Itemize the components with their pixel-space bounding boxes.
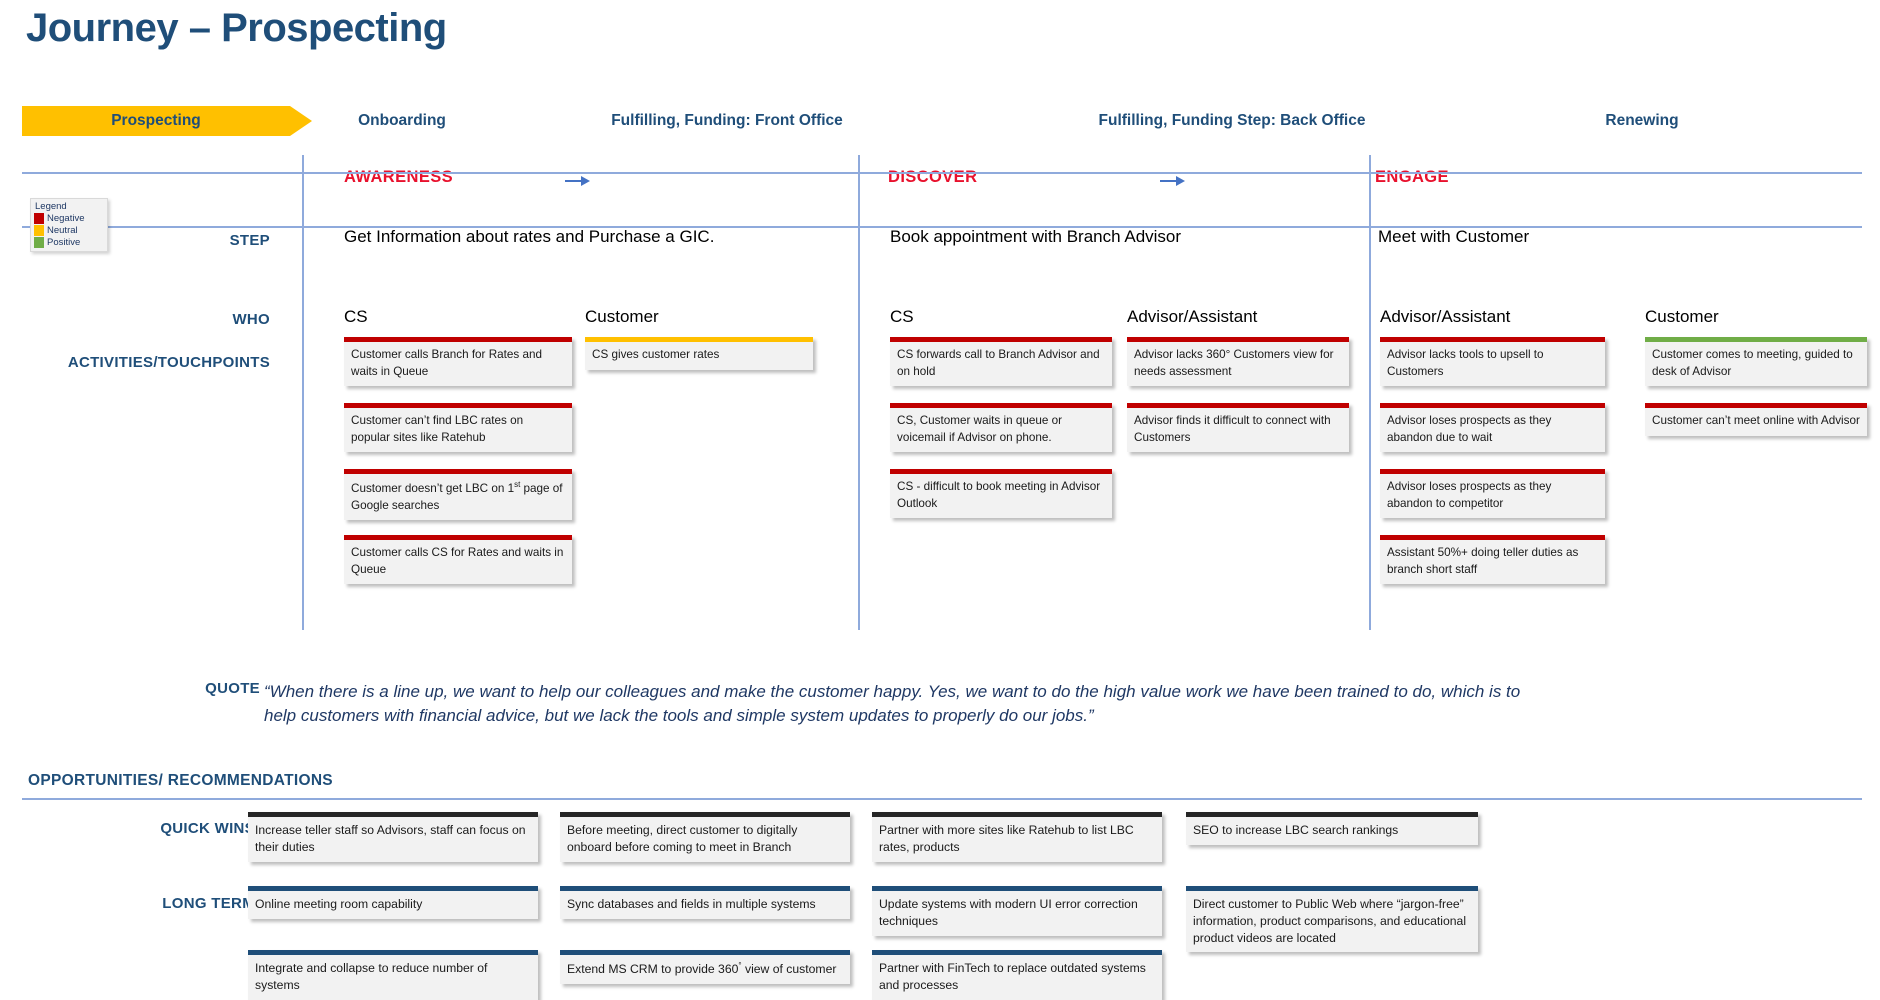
activity-card-text: Advisor loses prospects as they abandon …	[1380, 474, 1605, 518]
rule-stage-1	[302, 155, 304, 630]
recommendation-text: Extend MS CRM to provide 360° view of cu…	[560, 955, 850, 984]
legend-item-negative: Negative	[34, 213, 104, 224]
activity-card[interactable]: Customer calls CS for Rates and waits in…	[344, 535, 572, 584]
phase-ribbon: ProspectingOnboardingFulfilling, Funding…	[22, 106, 1862, 136]
recommendation-text: Before meeting, direct customer to digit…	[560, 817, 850, 862]
rule-opportunities	[22, 798, 1862, 800]
activity-card-text: Advisor finds it difficult to connect wi…	[1127, 408, 1349, 452]
who-header-4: Advisor/Assistant	[1380, 307, 1510, 327]
legend-swatch-neutral	[34, 225, 44, 236]
stage-label-awareness: AWARENESS	[344, 168, 453, 187]
activity-card-text: CS gives customer rates	[585, 342, 813, 370]
activity-card-text: Customer calls CS for Rates and waits in…	[344, 540, 572, 584]
phase-label: Fulfilling, Funding: Front Office	[611, 112, 843, 130]
activity-card[interactable]: Advisor finds it difficult to connect wi…	[1127, 403, 1349, 452]
activity-card[interactable]: Customer comes to meeting, guided to des…	[1645, 337, 1867, 386]
recommendation-text: Increase teller staff so Advisors, staff…	[248, 817, 538, 862]
rule-stage-3	[1369, 155, 1371, 630]
who-header-3: Advisor/Assistant	[1127, 307, 1257, 327]
activity-card-text: CS - difficult to book meeting in Adviso…	[890, 474, 1112, 518]
recommendation-text: Direct customer to Public Web where “jar…	[1186, 891, 1478, 952]
journey-map-slide: Journey – Prospecting ProspectingOnboard…	[0, 0, 1880, 1000]
activity-card-text: Customer comes to meeting, guided to des…	[1645, 342, 1867, 386]
recommendation-text: Update systems with modern UI error corr…	[872, 891, 1162, 936]
activity-card[interactable]: Advisor lacks 360° Customers view for ne…	[1127, 337, 1349, 386]
rule-top	[22, 172, 1862, 174]
page-title: Journey – Prospecting	[26, 6, 447, 51]
activity-card-text: Advisor lacks tools to upsell to Custome…	[1380, 342, 1605, 386]
activity-card-text: Advisor lacks 360° Customers view for ne…	[1127, 342, 1349, 386]
who-header-5: Customer	[1645, 307, 1719, 327]
recommendation-text: Partner with more sites like Ratehub to …	[872, 817, 1162, 862]
activity-card[interactable]: CS gives customer rates	[585, 337, 813, 370]
phase-tab-renewing[interactable]: Renewing	[1542, 106, 1742, 136]
long-term-card[interactable]: Update systems with modern UI error corr…	[872, 886, 1162, 936]
activity-card[interactable]: CS - difficult to book meeting in Adviso…	[890, 469, 1112, 518]
activity-card-text: Customer calls Branch for Rates and wait…	[344, 342, 572, 386]
activity-card[interactable]: Customer calls Branch for Rates and wait…	[344, 337, 572, 386]
activity-card-text: Advisor loses prospects as they abandon …	[1380, 408, 1605, 452]
activity-card-text: CS, Customer waits in queue or voicemail…	[890, 408, 1112, 452]
row-label-who: WHO	[60, 311, 270, 328]
phase-label: Fulfilling, Funding Step: Back Office	[1099, 112, 1366, 130]
quick-win-card[interactable]: Partner with more sites like Ratehub to …	[872, 812, 1162, 862]
legend-title: Legend	[34, 201, 104, 212]
phase-label: Prospecting	[111, 112, 201, 130]
rule-stage-2	[858, 155, 860, 630]
step-text-awareness: Get Information about rates and Purchase…	[344, 227, 714, 247]
row-label-long-term: LONG TERM	[60, 895, 255, 912]
recommendation-text: Partner with FinTech to replace outdated…	[872, 955, 1162, 1000]
who-header-0: CS	[344, 307, 368, 327]
phase-tab-onboarding[interactable]: Onboarding	[312, 106, 492, 136]
phase-tab-fulfilling-funding-step-back-office[interactable]: Fulfilling, Funding Step: Back Office	[1042, 106, 1422, 136]
row-label-quote: QUOTE	[60, 680, 260, 697]
activity-card-text: Customer doesn’t get LBC on 1st page of …	[344, 474, 572, 520]
activity-card[interactable]: Customer can’t meet online with Advisor	[1645, 403, 1867, 436]
stage-label-discover: DISCOVER	[888, 168, 977, 187]
long-term-card[interactable]: Direct customer to Public Web where “jar…	[1186, 886, 1478, 952]
right-arrow-icon	[1160, 174, 1186, 188]
recommendation-text: Online meeting room capability	[248, 891, 538, 919]
activity-card-text: Customer can’t find LBC rates on popular…	[344, 408, 572, 452]
phase-label: Onboarding	[358, 112, 446, 130]
activity-card[interactable]: Advisor loses prospects as they abandon …	[1380, 469, 1605, 518]
recommendation-text: Sync databases and fields in multiple sy…	[560, 891, 850, 919]
opportunities-heading: OPPORTUNITIES/ RECOMMENDATIONS	[28, 772, 333, 790]
legend-swatch-positive	[34, 237, 44, 248]
recommendation-text: Integrate and collapse to reduce number …	[248, 955, 538, 1000]
right-arrow-icon	[565, 174, 591, 188]
step-text-discover: Book appointment with Branch Advisor	[890, 227, 1181, 247]
who-header-1: Customer	[585, 307, 659, 327]
activity-card-text: Assistant 50%+ doing teller duties as br…	[1380, 540, 1605, 584]
activity-card[interactable]: CS forwards call to Branch Advisor and o…	[890, 337, 1112, 386]
phase-label: Renewing	[1605, 112, 1678, 130]
quick-win-card[interactable]: SEO to increase LBC search rankings	[1186, 812, 1478, 845]
activity-card[interactable]: CS, Customer waits in queue or voicemail…	[890, 403, 1112, 452]
activity-card-text: Customer can’t meet online with Advisor	[1645, 408, 1867, 436]
long-term-card[interactable]: Online meeting room capability	[248, 886, 538, 919]
row-label-activities: ACTIVITIES/TOUCHPOINTS	[10, 354, 270, 371]
activity-card[interactable]: Advisor loses prospects as they abandon …	[1380, 403, 1605, 452]
legend-swatch-negative	[34, 213, 44, 224]
activity-card[interactable]: Assistant 50%+ doing teller duties as br…	[1380, 535, 1605, 584]
quote-text: “When there is a line up, we want to hel…	[264, 680, 1549, 728]
quick-win-card[interactable]: Before meeting, direct customer to digit…	[560, 812, 850, 862]
row-label-quick-wins: QUICK WINS	[60, 820, 255, 837]
legend-label-negative: Negative	[47, 213, 85, 224]
quick-win-card[interactable]: Increase teller staff so Advisors, staff…	[248, 812, 538, 862]
activity-card-text: CS forwards call to Branch Advisor and o…	[890, 342, 1112, 386]
recommendation-text: SEO to increase LBC search rankings	[1186, 817, 1478, 845]
long-term-card[interactable]: Integrate and collapse to reduce number …	[248, 950, 538, 1000]
long-term-card[interactable]: Sync databases and fields in multiple sy…	[560, 886, 850, 919]
activity-card[interactable]: Customer doesn’t get LBC on 1st page of …	[344, 469, 572, 520]
long-term-card[interactable]: Extend MS CRM to provide 360° view of cu…	[560, 950, 850, 984]
stage-label-engage: ENGAGE	[1375, 168, 1449, 187]
activity-card[interactable]: Advisor lacks tools to upsell to Custome…	[1380, 337, 1605, 386]
phase-tab-fulfilling-funding-front-office[interactable]: Fulfilling, Funding: Front Office	[562, 106, 892, 136]
phase-tab-prospecting[interactable]: Prospecting	[22, 106, 290, 136]
row-label-step: STEP	[60, 232, 270, 249]
long-term-card[interactable]: Partner with FinTech to replace outdated…	[872, 950, 1162, 1000]
step-text-engage: Meet with Customer	[1378, 227, 1529, 247]
activity-card[interactable]: Customer can’t find LBC rates on popular…	[344, 403, 572, 452]
who-header-2: CS	[890, 307, 914, 327]
stage-band: AWARENESSDISCOVERENGAGE	[0, 150, 1880, 200]
